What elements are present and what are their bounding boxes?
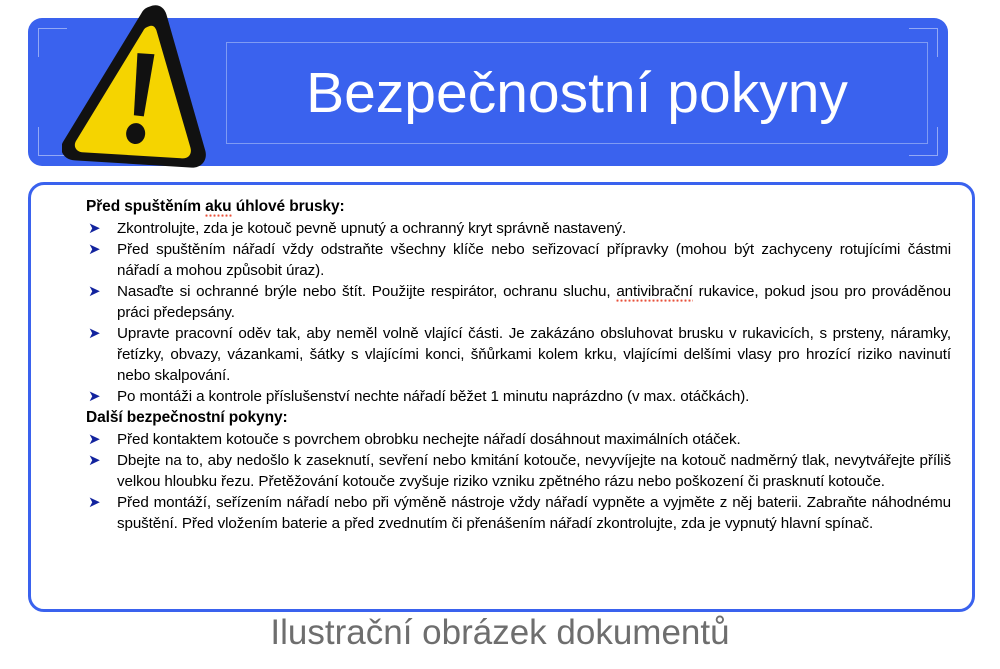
list-item-text: Před kontaktem kotouče s povrchem obrobk…	[117, 429, 951, 450]
arrow-bullet-icon: ➤	[86, 323, 117, 344]
list-item-text: Před montáží, seřízením nářadí nebo při …	[117, 492, 951, 534]
arrow-bullet-icon: ➤	[86, 281, 117, 302]
list-item: ➤ Nasaďte si ochranné brýle nebo štít. P…	[86, 281, 951, 323]
page-title: Bezpečnostní pokyny	[306, 65, 848, 122]
list-item-text: Upravte pracovní oděv tak, aby neměl vol…	[117, 323, 951, 386]
arrow-bullet-icon: ➤	[86, 450, 117, 471]
section-heading-2: Další bezpečnostní pokyny:	[86, 407, 951, 428]
arrow-bullet-icon: ➤	[86, 429, 117, 450]
list-item-text: Dbejte na to, aby nedošlo k zaseknutí, s…	[117, 450, 951, 492]
list-item: ➤ Upravte pracovní oděv tak, aby neměl v…	[86, 323, 951, 386]
warning-triangle-icon	[62, 0, 222, 175]
image-caption: Ilustrační obrázek dokumentů	[0, 612, 1000, 654]
list-item: ➤ Před montáží, seřízením nářadí nebo př…	[86, 492, 951, 534]
arrow-bullet-icon: ➤	[86, 239, 117, 260]
list-item: ➤ Zkontrolujte, zda je kotouč pevně upnu…	[86, 218, 951, 239]
list-item: ➤ Po montáži a kontrole příslušenství ne…	[86, 386, 951, 407]
section-heading-1-prefix: Před spuštěním	[86, 198, 205, 215]
list-item-text: Zkontrolujte, zda je kotouč pevně upnutý…	[117, 218, 951, 239]
list-item-text: Nasaďte si ochranné brýle nebo štít. Pou…	[117, 281, 951, 323]
document-preview-panel: Před spuštěním aku úhlové brusky: ➤ Zkon…	[28, 182, 975, 612]
section-heading-1-suffix: úhlové brusky:	[232, 198, 345, 215]
section-heading-1: Před spuštěním aku úhlové brusky:	[86, 196, 951, 217]
misspelled-word-antivibracni: antivibrační	[616, 283, 692, 302]
banner-title-box: Bezpečnostní pokyny	[226, 42, 928, 144]
arrow-bullet-icon: ➤	[86, 492, 117, 513]
list-item: ➤ Před spuštěním nářadí vždy odstraňte v…	[86, 239, 951, 281]
misspelled-word-aku: aku	[205, 198, 231, 217]
arrow-bullet-icon: ➤	[86, 386, 117, 407]
arrow-bullet-icon: ➤	[86, 218, 117, 239]
list-item: ➤ Dbejte na to, aby nedošlo k zaseknutí,…	[86, 450, 951, 492]
list-item-text: Po montáži a kontrole příslušenství nech…	[117, 386, 951, 407]
list-item: ➤ Před kontaktem kotouče s povrchem obro…	[86, 429, 951, 450]
document-text-body: Před spuštěním aku úhlové brusky: ➤ Zkon…	[86, 196, 951, 534]
list-item-text: Před spuštěním nářadí vždy odstraňte vše…	[117, 239, 951, 281]
